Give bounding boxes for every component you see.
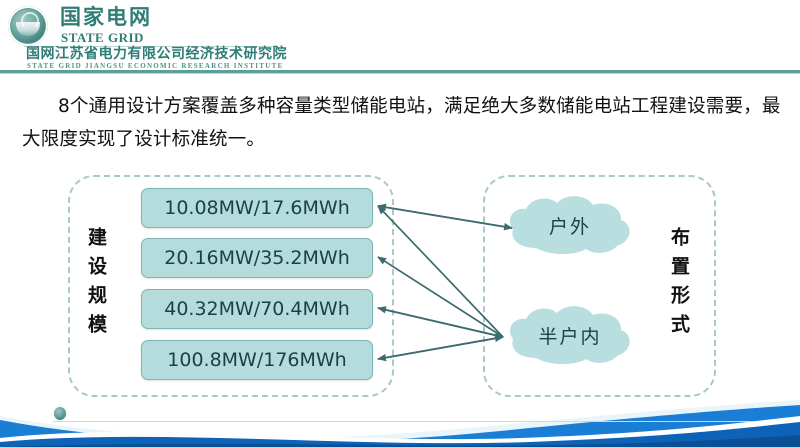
- brand-name-en: STATE GRID: [61, 30, 144, 46]
- state-grid-small-logo-icon: [53, 406, 67, 421]
- diagram: 建设规模 布置形式 10.08MW/17.6MWh 20.16MW/35.2MW…: [0, 165, 800, 400]
- header-rule-secondary: [0, 73, 800, 74]
- institute-name-en: STATE GRID JIANGSU ECONOMIC RESEARCH INS…: [27, 62, 284, 70]
- brand-name-cn: 国家电网: [60, 6, 152, 28]
- footer-divider: [53, 421, 753, 422]
- slide-footer: [0, 398, 800, 447]
- layout-cloud-label: 户外: [549, 212, 591, 239]
- connector-arrows: [0, 165, 800, 400]
- footer-wave-decoration: [0, 398, 800, 447]
- state-grid-globe-icon: [8, 6, 48, 46]
- layout-cloud-label: 半户内: [538, 322, 601, 349]
- institute-name-cn: 国网江苏省电力有限公司经济技术研究院: [26, 47, 287, 62]
- body-paragraph: 8个通用设计方案覆盖多种容量类型储能电站，满足绝大多数储能电站工程建设需要，最大…: [22, 90, 782, 156]
- slide-header: 国家电网 STATE GRID 国网江苏省电力有限公司经济技术研究院 STATE…: [0, 0, 800, 72]
